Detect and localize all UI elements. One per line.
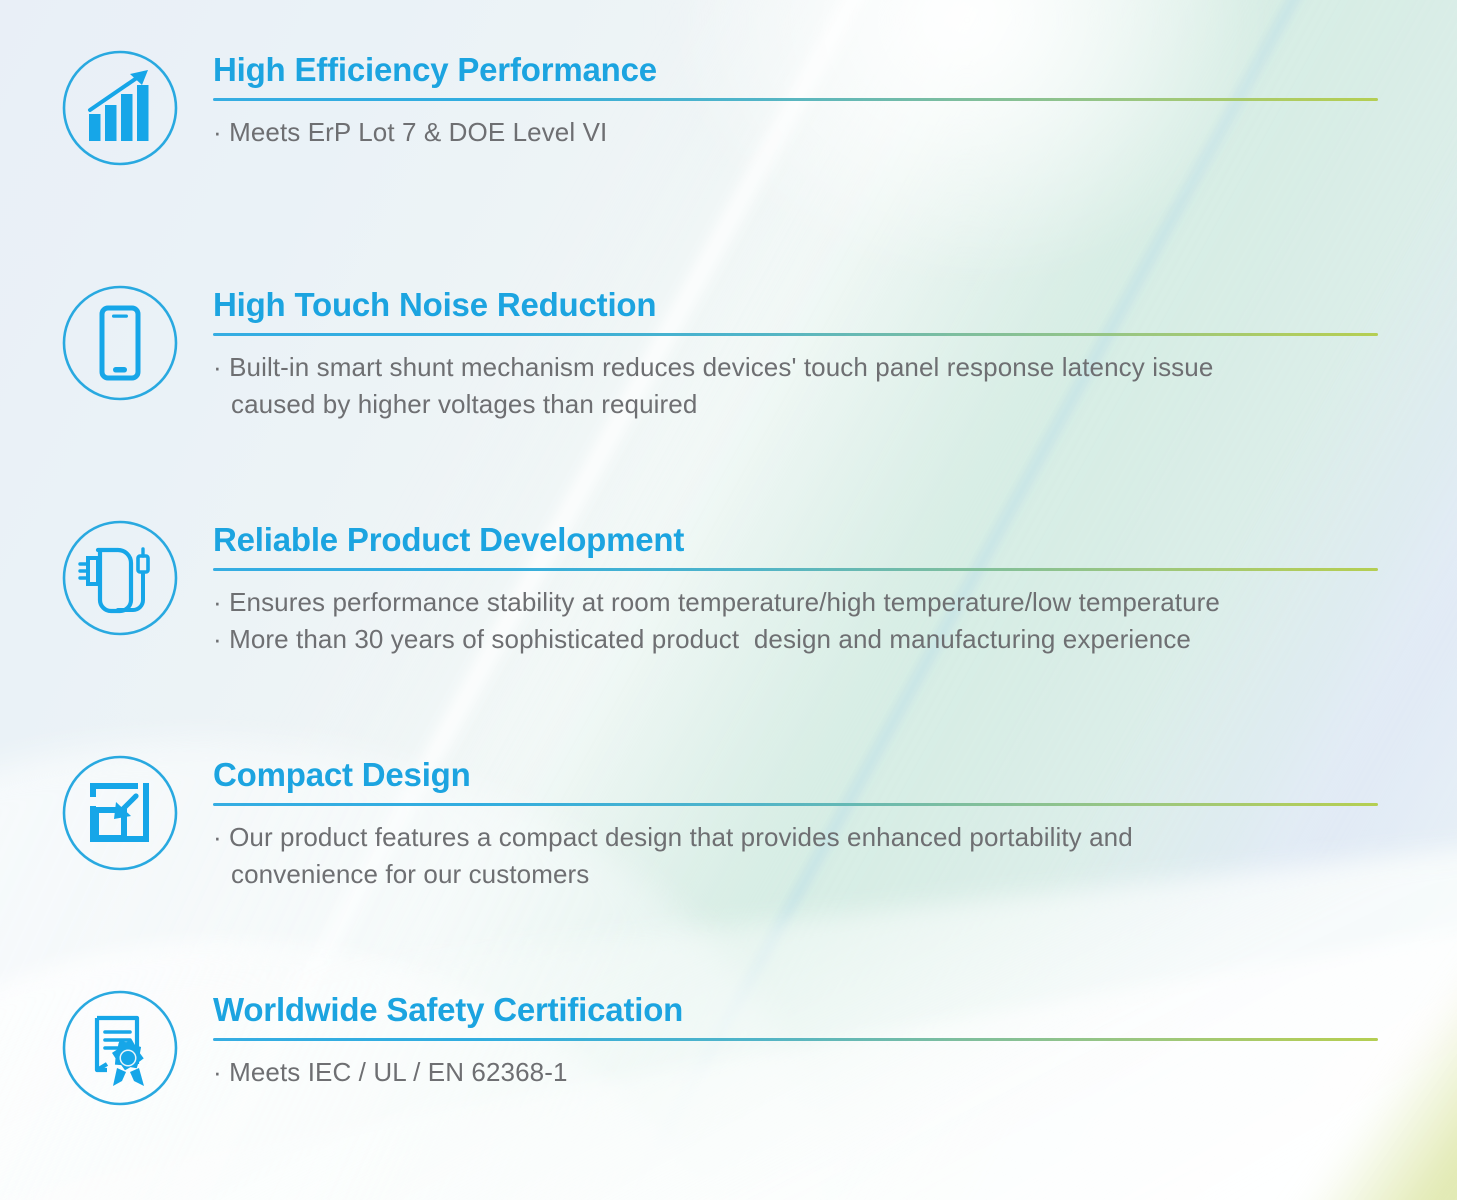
bullet-line-continuation: caused by higher voltages than required xyxy=(213,386,1457,423)
power-adapter-icon xyxy=(60,518,180,638)
feature-title: Compact Design xyxy=(213,756,1457,794)
smartphone-icon xyxy=(60,283,180,403)
feature-item-compact-design: Compact Design · Our product features a … xyxy=(0,753,1457,893)
bullet-line: · Ensures performance stability at room … xyxy=(213,584,1457,621)
certificate-award-icon xyxy=(60,988,180,1108)
feature-title: High Efficiency Performance xyxy=(213,51,1457,89)
feature-item-high-touch-noise-reduction: High Touch Noise Reduction · Built-in sm… xyxy=(0,283,1457,423)
feature-divider xyxy=(213,803,1378,806)
feature-bullets: · Meets ErP Lot 7 & DOE Level VI xyxy=(213,114,1457,151)
feature-title: High Touch Noise Reduction xyxy=(213,286,1457,324)
bar-chart-growth-icon xyxy=(60,48,180,168)
feature-bullets: · Built-in smart shunt mechanism reduces… xyxy=(213,349,1457,423)
feature-title: Worldwide Safety Certification xyxy=(213,991,1457,1029)
feature-divider xyxy=(213,98,1378,101)
feature-text-block: High Efficiency Performance · Meets ErP … xyxy=(213,48,1457,151)
feature-title: Reliable Product Development xyxy=(213,521,1457,559)
feature-item-reliable-product-development: Reliable Product Development · Ensures p… xyxy=(0,518,1457,658)
compact-resize-icon xyxy=(60,753,180,873)
feature-list: High Efficiency Performance · Meets ErP … xyxy=(0,0,1457,1200)
feature-item-worldwide-safety-certification: Worldwide Safety Certification · Meets I… xyxy=(0,988,1457,1108)
bullet-line: · Meets ErP Lot 7 & DOE Level VI xyxy=(213,114,1457,151)
feature-bullets: · Ensures performance stability at room … xyxy=(213,584,1457,658)
feature-text-block: Reliable Product Development · Ensures p… xyxy=(213,518,1457,658)
bullet-line: · Meets IEC / UL / EN 62368-1 xyxy=(213,1054,1457,1091)
feature-text-block: Worldwide Safety Certification · Meets I… xyxy=(213,988,1457,1091)
feature-item-high-efficiency-performance: High Efficiency Performance · Meets ErP … xyxy=(0,48,1457,168)
bullet-line: · More than 30 years of sophisticated pr… xyxy=(213,621,1457,658)
bullet-line: · Our product features a compact design … xyxy=(213,819,1457,856)
bullet-line: · Built-in smart shunt mechanism reduces… xyxy=(213,349,1457,386)
bullet-line-continuation: convenience for our customers xyxy=(213,856,1457,893)
feature-divider xyxy=(213,1038,1378,1041)
feature-text-block: Compact Design · Our product features a … xyxy=(213,753,1457,893)
feature-bullets: · Meets IEC / UL / EN 62368-1 xyxy=(213,1054,1457,1091)
feature-divider xyxy=(213,333,1378,336)
feature-divider xyxy=(213,568,1378,571)
feature-bullets: · Our product features a compact design … xyxy=(213,819,1457,893)
feature-text-block: High Touch Noise Reduction · Built-in sm… xyxy=(213,283,1457,423)
